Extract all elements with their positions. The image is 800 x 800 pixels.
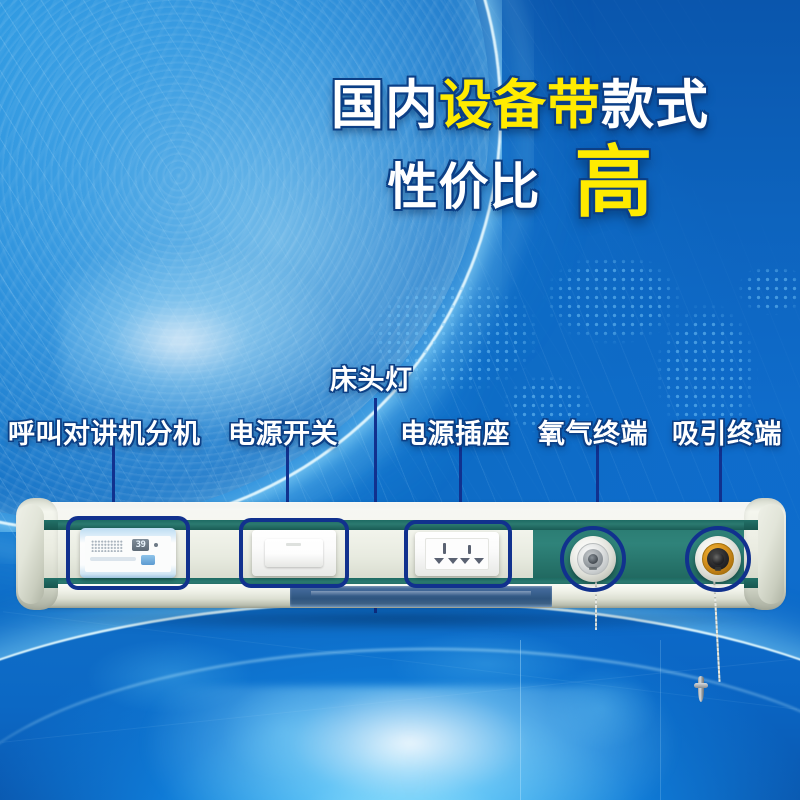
callout-label-oxygen-terminal: 氧气终端 bbox=[538, 412, 648, 451]
end-cap-face bbox=[758, 504, 784, 604]
headline-line-1: 国内设备带款式 bbox=[260, 78, 780, 134]
headline-line2-left: 性价比 bbox=[387, 147, 540, 219]
pull-cord-weight-arm bbox=[694, 683, 708, 688]
panel-drop-shadow bbox=[28, 610, 774, 632]
highlight-box-power-socket bbox=[404, 520, 512, 588]
pull-cord-weight[interactable] bbox=[694, 676, 708, 702]
headline-block: 国内设备带款式 性价比 高 bbox=[260, 78, 780, 220]
highlight-box-power-switch bbox=[239, 518, 349, 588]
headline-line1-highlight: 设备带 bbox=[439, 75, 601, 136]
pull-cord-weight-body bbox=[698, 676, 704, 702]
bottom-glow-burst bbox=[130, 686, 690, 800]
highlight-circle-suction bbox=[685, 526, 751, 592]
headline-line2-right: 高 bbox=[574, 146, 652, 220]
grid-line-vertical bbox=[660, 640, 661, 800]
callout-label-intercom: 呼叫对讲机分机 bbox=[8, 412, 201, 451]
callout-label-power-socket: 电源插座 bbox=[400, 412, 510, 451]
callout-label-power-switch: 电源开关 bbox=[228, 412, 338, 451]
end-cap-face bbox=[18, 504, 44, 604]
highlight-circle-oxygen bbox=[560, 526, 626, 592]
grid-line-vertical bbox=[520, 640, 521, 800]
headline-line1-part1: 国内 bbox=[331, 75, 439, 136]
headline-line1-part2: 款式 bbox=[601, 75, 709, 136]
callout-label-suction-terminal: 吸引终端 bbox=[672, 412, 782, 451]
headline-line-2: 性价比 高 bbox=[260, 146, 780, 220]
callout-label-bed-lamp: 床头灯 bbox=[330, 358, 413, 397]
panel-end-cap-left bbox=[16, 498, 58, 610]
highlight-box-intercom bbox=[66, 516, 190, 590]
panel-rail-blue-insert bbox=[290, 586, 552, 607]
promo-banner: 国内设备带款式 性价比 高 呼叫对讲机分机 电源开关 床头灯 电源插座 氧气终端… bbox=[0, 0, 800, 800]
